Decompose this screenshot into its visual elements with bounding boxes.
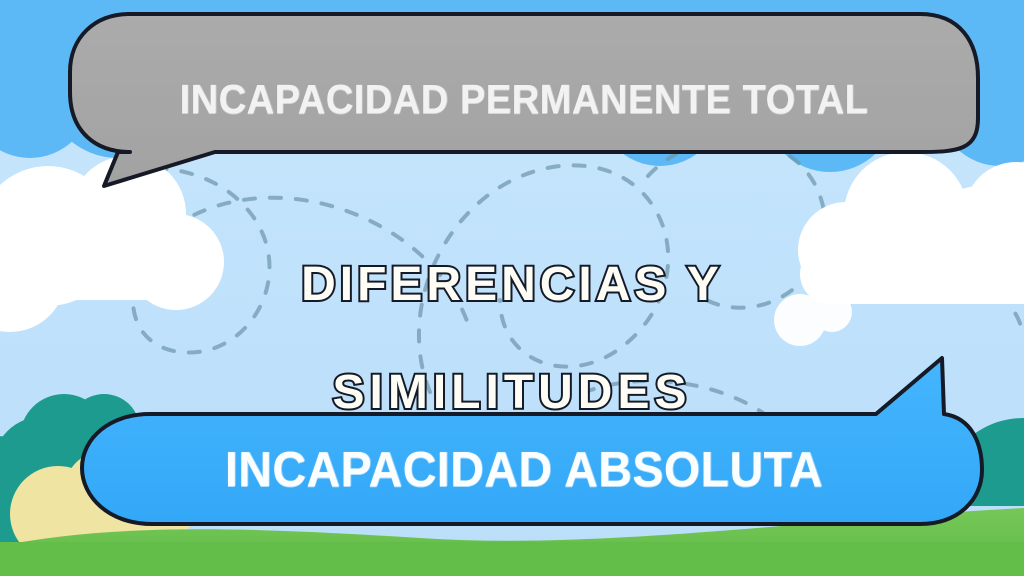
center-headline: DIFERENCIAS Y SIMILITUDES (0, 204, 1024, 474)
center-headline-line2: SIMILITUDES (0, 366, 1024, 420)
bottom-bubble-label: INCAPACIDAD ABSOLUTA (117, 440, 930, 500)
center-headline-line1: DIFERENCIAS Y (0, 258, 1024, 312)
infographic-slide: INCAPACIDAD PERMANENTE TOTAL DIFERENCIAS… (0, 0, 1024, 576)
top-bubble-label: INCAPACIDAD PERMANENTE TOTAL (126, 74, 922, 124)
grass-base (0, 542, 1024, 576)
text-layer: INCAPACIDAD PERMANENTE TOTAL DIFERENCIAS… (0, 0, 1024, 576)
